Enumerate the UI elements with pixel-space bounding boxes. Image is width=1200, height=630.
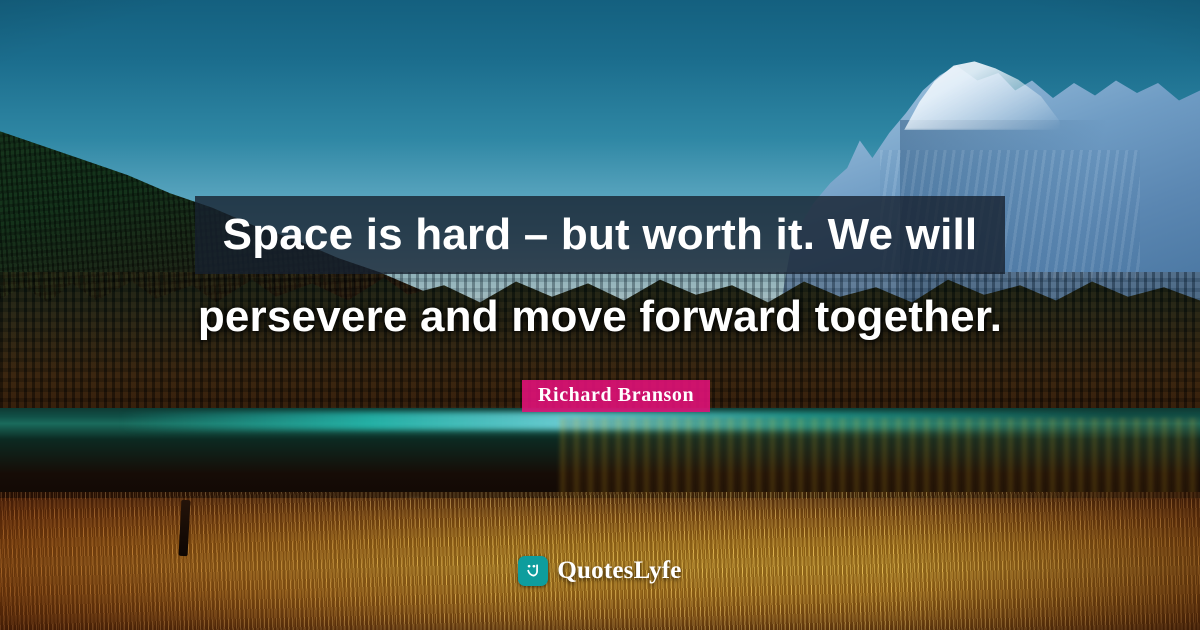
quote-smiley-icon xyxy=(518,556,548,586)
brand-name: QuotesLyfe xyxy=(557,557,681,585)
author-badge: Richard Branson xyxy=(522,380,710,412)
quote-line-2-band: persevere and move forward together. xyxy=(180,278,1020,356)
quote-card: Space is hard – but worth it. We will pe… xyxy=(0,0,1200,630)
quote-line-2: persevere and move forward together. xyxy=(180,278,1020,356)
quote-line-1: Space is hard – but worth it. We will xyxy=(195,196,1005,274)
brand-logo[interactable]: QuotesLyfe xyxy=(0,556,1200,586)
quote-block: Space is hard – but worth it. We will pe… xyxy=(0,196,1200,356)
quote-line-1-band: Space is hard – but worth it. We will xyxy=(195,196,1005,274)
